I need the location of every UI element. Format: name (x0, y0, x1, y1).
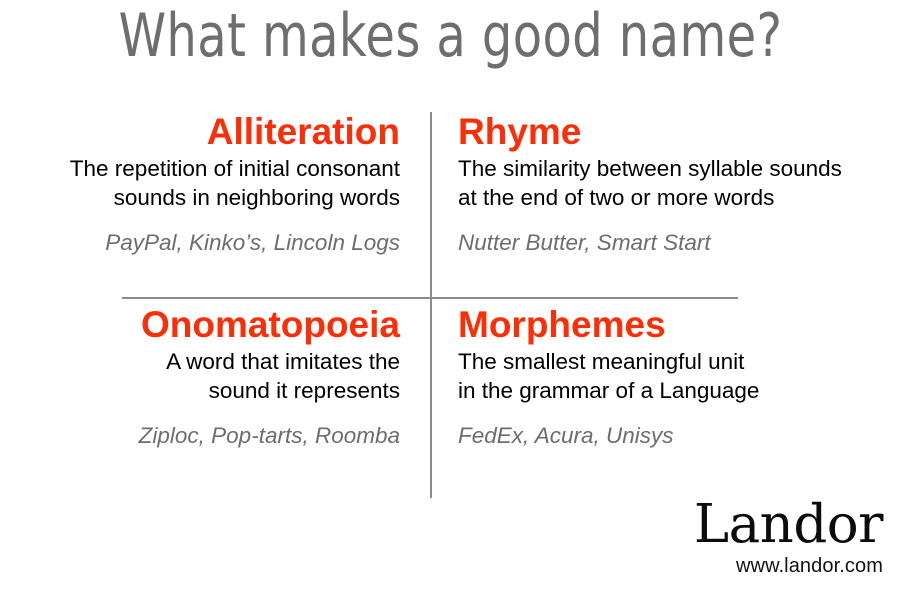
quadrant-rhyme: Rhyme The similarity between syllable so… (458, 112, 876, 258)
quadrant-body: The similarity between syllable sounds a… (458, 154, 876, 213)
quadrant-body: The repetition of initial consonant soun… (0, 154, 400, 213)
quadrant-body: The smallest meaningful unit in the gram… (458, 347, 876, 406)
body-line: in the grammar of a Language (458, 376, 876, 405)
body-line: sound it represents (0, 376, 400, 405)
body-line: The smallest meaningful unit (458, 347, 876, 376)
quadrant-examples: FedEx, Acura, Unisys (458, 421, 876, 450)
body-line: The similarity between syllable sounds (458, 154, 876, 183)
quadrant-grid: Alliteration The repetition of initial c… (0, 112, 901, 498)
quadrant-alliteration: Alliteration The repetition of initial c… (0, 112, 418, 258)
quadrant-onomatopoeia: Onomatopoeia A word that imitates the so… (0, 305, 418, 451)
quadrant-heading: Onomatopoeia (0, 305, 400, 345)
logo-wordmark: Landor (694, 498, 883, 551)
page-title: What makes a good name? (90, 6, 811, 66)
quadrant-examples: Nutter Butter, Smart Start (458, 228, 876, 257)
quadrant-heading: Rhyme (458, 112, 876, 152)
quadrant-morphemes: Morphemes The smallest meaningful unit i… (458, 305, 876, 451)
body-line: at the end of two or more words (458, 183, 876, 212)
slide-canvas: What makes a good name? Alliteration The… (0, 0, 901, 589)
quadrant-body: A word that imitates the sound it repres… (0, 347, 400, 406)
body-line: The repetition of initial consonant (0, 154, 400, 183)
quadrant-examples: Ziploc, Pop-tarts, Roomba (0, 421, 400, 450)
body-line: sounds in neighboring words (0, 183, 400, 212)
landor-logo: Landor www.landor.com (694, 498, 883, 577)
body-line: A word that imitates the (0, 347, 400, 376)
quadrant-heading: Alliteration (0, 112, 400, 152)
quadrant-heading: Morphemes (458, 305, 876, 345)
logo-url: www.landor.com (694, 555, 883, 577)
quadrant-examples: PayPal, Kinko’s, Lincoln Logs (0, 228, 400, 257)
